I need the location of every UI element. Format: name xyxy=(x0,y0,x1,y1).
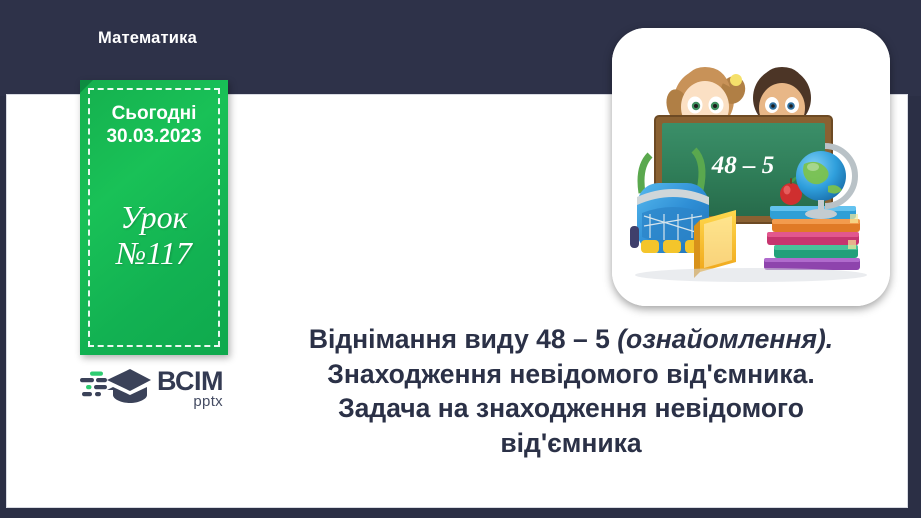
today-label: Сьогодні xyxy=(112,102,197,125)
subject-label: Математика xyxy=(98,29,197,48)
classroom-illustration-card: 48 – 5 xyxy=(612,28,890,306)
title-line1-part2: (ознайомлення). xyxy=(617,324,833,354)
title-line4: від'ємника xyxy=(500,428,641,458)
lesson-word: Урок xyxy=(120,200,187,236)
date-card-content: Сьогодні 30.03.2023 Урок №117 xyxy=(80,80,228,355)
classroom-illustration: 48 – 5 xyxy=(612,28,890,306)
logo-subtitle: pptx xyxy=(157,394,223,409)
title-line1-part1: Віднімання виду 48 – 5 xyxy=(309,324,617,354)
logo-name: ВСІМ xyxy=(157,368,223,395)
floor-shadow xyxy=(635,268,867,282)
title-line2: Знаходження невідомого від'ємника. xyxy=(327,359,815,389)
chalkboard-expression: 48 – 5 xyxy=(711,152,775,179)
lesson-title: Віднімання виду 48 – 5 (ознайомлення). З… xyxy=(236,322,906,461)
lesson-number: №117 xyxy=(116,236,192,272)
title-line3: Задача на знаходження невідомого xyxy=(338,393,804,423)
presentation-slide: Математика Сьогодні 30.03.2023 Урок №117 xyxy=(0,0,921,518)
date-lesson-card: Сьогодні 30.03.2023 Урок №117 xyxy=(80,80,228,355)
today-date: 30.03.2023 xyxy=(106,125,201,148)
logo-wordmark: ВСІМ pptx xyxy=(157,368,223,409)
vsim-pptx-logo[interactable]: ВСІМ pptx xyxy=(80,366,240,410)
graduation-cap-icon xyxy=(80,366,152,411)
